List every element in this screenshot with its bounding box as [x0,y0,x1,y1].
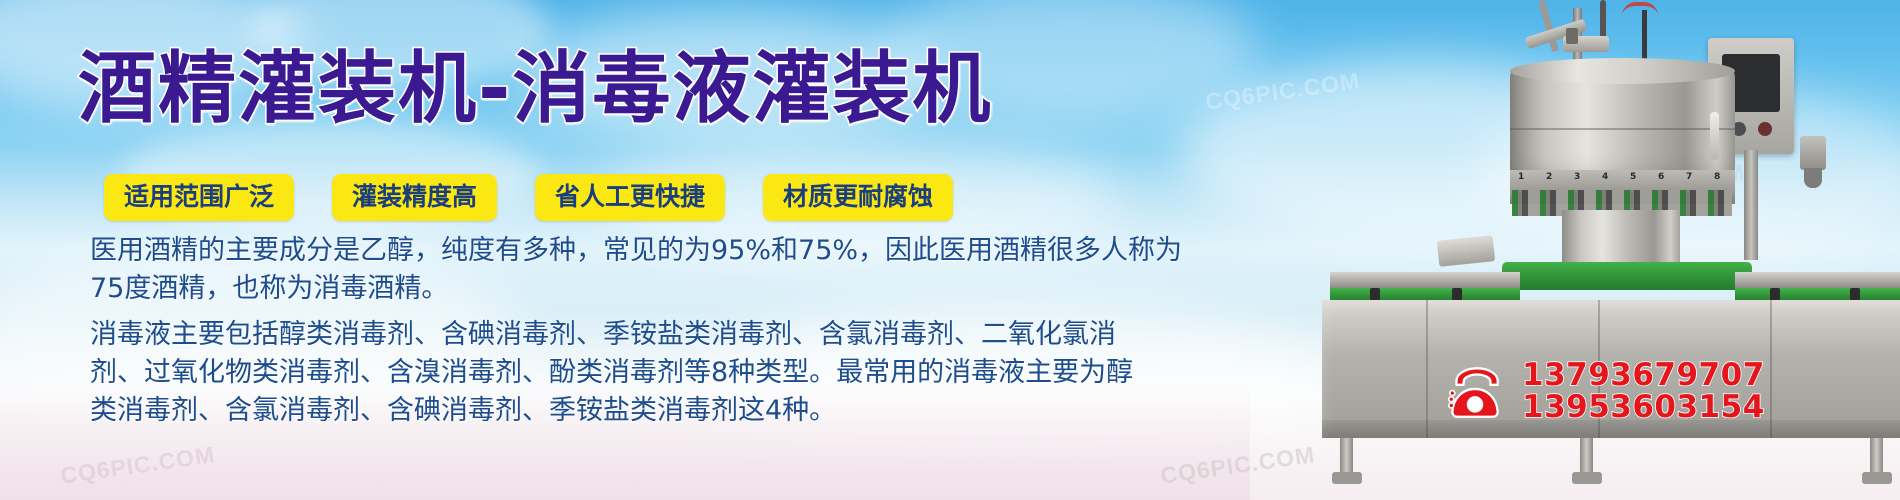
text-line: 消毒液主要包括醇类消毒剂、含碘消毒剂、季铵盐类消毒剂、含氯消毒剂、二氧化氯消 [90,316,1320,354]
text-line: 医用酒精的主要成分是乙醇，纯度有多种，常见的为95%和75%，因此医用酒精很多人… [90,232,1320,270]
base-panel-seam [1426,300,1428,438]
rotary-drum-window [1710,112,1719,160]
watermark: CQ6PIC.COM [59,441,217,489]
nozzle-number: 8 [1714,172,1720,182]
phone-number-secondary[interactable]: 13953603154 [1522,391,1765,423]
nozzle-number: 1 [1518,172,1524,182]
feature-tag-list: 适用范围广泛 灌装精度高 省人工更快捷 材质更耐腐蚀 [104,174,953,221]
feature-tag: 灌装精度高 [332,174,497,221]
text-line: 75度酒精，也称为消毒酒精。 [90,270,1320,308]
conveyor-rail-right [1735,272,1900,288]
machine-pipe-red [1622,2,1658,16]
nozzle-number: 4 [1602,172,1608,182]
text-line: 剂、过氧化物类消毒剂、含溴消毒剂、酚类消毒剂等8种类型。最常用的消毒液主要为醇 [90,354,1320,392]
paragraph-alcohol: 医用酒精的主要成分是乙醇，纯度有多种，常见的为95%和75%，因此医用酒精很多人… [90,232,1320,308]
machine-foot [1572,472,1602,484]
machine-valve [1566,28,1578,44]
phone-number-primary[interactable]: 13793679707 [1522,359,1765,391]
air-regulator-bowl [1804,168,1822,188]
paragraph-disinfectant: 消毒液主要包括醇类消毒剂、含碘消毒剂、季铵盐类消毒剂、含氯消毒剂、二氧化氯消 剂… [90,316,1320,430]
description-text: 医用酒精的主要成分是乙醇，纯度有多种，常见的为95%和75%，因此医用酒精很多人… [90,232,1320,438]
base-panel-seam [1770,300,1772,438]
nozzle-number: 5 [1630,172,1636,182]
center-column [1562,210,1680,270]
control-panel-knob [1758,122,1772,136]
control-panel-post [1744,150,1758,260]
contact-block[interactable]: 13793679707 13953603154 [1442,358,1765,424]
nozzle-labels: 1 2 3 4 5 6 7 8 [1510,172,1735,188]
nozzle-number: 2 [1546,172,1552,182]
deflector-plate [1437,235,1495,267]
rotary-drum-top [1510,58,1735,84]
air-regulator [1800,136,1826,170]
machine-foot [1332,472,1362,484]
page-title: 酒精灌装机-消毒液灌装机 [78,46,992,132]
filling-machine-image: 1 2 3 4 5 6 7 8 [1330,0,1900,500]
watermark: CQ6PIC.COM [1159,441,1317,489]
machine-pipe [1600,0,1606,40]
rotary-drum-seam [1510,128,1735,130]
nozzle-number: 6 [1658,172,1664,182]
telephone-icon [1442,358,1508,424]
conveyor-rail-left [1330,272,1520,288]
text-line: 类消毒剂、含氯消毒剂、含碘消毒剂、季铵盐类消毒剂这4种。 [90,392,1320,430]
phone-number-list: 13793679707 13953603154 [1522,359,1765,423]
feature-tag: 省人工更快捷 [535,174,725,221]
feature-tag: 材质更耐腐蚀 [763,174,953,221]
nozzle-number: 7 [1686,172,1692,182]
machine-foot [1862,472,1892,484]
nozzle-number: 3 [1574,172,1580,182]
star-wheel-plate [1502,262,1752,290]
feature-tag: 适用范围广泛 [104,174,294,221]
promo-banner: CQ6PIC.COM CQ6PIC.COM CQ6PIC.COM CQ6PIC.… [0,0,1900,500]
